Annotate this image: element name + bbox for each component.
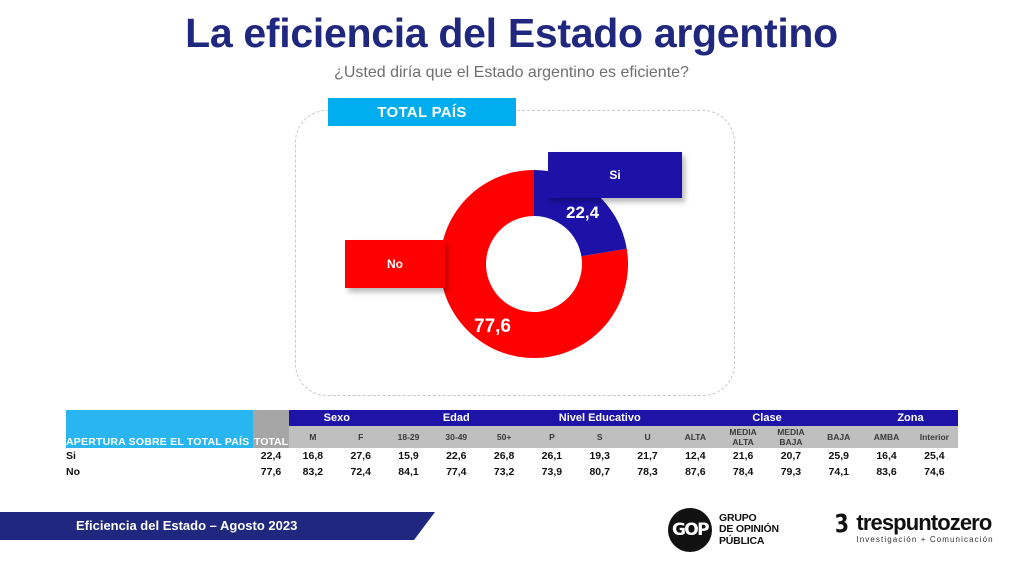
table-cell: 27,6 [337, 448, 385, 464]
table-cell: 25,4 [910, 448, 958, 464]
table-row: No77,683,272,484,177,473,273,980,778,387… [66, 464, 958, 480]
table-row: Si22,416,827,615,922,626,826,119,321,712… [66, 448, 958, 464]
table-cell: 83,6 [863, 464, 911, 480]
table-group-header-1: Sexo [289, 410, 385, 426]
table-cell: 77,4 [432, 464, 480, 480]
table-column-header-11: MEDIABAJA [767, 426, 815, 448]
donut-svg [440, 170, 628, 358]
table-group-header-4: Clase [671, 410, 862, 426]
table-column-header-2: F [337, 426, 385, 448]
table-cell: 22,6 [432, 448, 480, 464]
total-pais-badge: TOTAL PAÍS [328, 98, 516, 126]
table-cell: 20,7 [767, 448, 815, 464]
table-cell: 73,2 [480, 464, 528, 480]
gop-logo: GOP GRUPO DE OPINIÓN PÚBLICA [668, 508, 779, 552]
table-cell: 83,2 [289, 464, 337, 480]
table-cell: 26,1 [528, 448, 576, 464]
table-column-header-9: ALTA [671, 426, 719, 448]
table-cell: 80,7 [576, 464, 624, 480]
table-column-header-14: Interior [910, 426, 958, 448]
table-cell: 87,6 [671, 464, 719, 480]
table-column-header-4: 30-49 [432, 426, 480, 448]
table-cell: 73,9 [528, 464, 576, 480]
gop-mark-icon: GOP [668, 508, 712, 552]
table-row-label: No [66, 464, 253, 480]
tpz-tagline: Investigación + Comunicación [856, 534, 993, 546]
table-cell: 26,8 [480, 448, 528, 464]
callout-no: No [345, 240, 445, 288]
table-column-header-5: 50+ [480, 426, 528, 448]
table-cell: 21,7 [624, 448, 672, 464]
table-cell: 78,4 [719, 464, 767, 480]
table-cell: 15,9 [385, 448, 433, 464]
table-cell: 74,6 [910, 464, 958, 480]
table-column-header-10: MEDIAALTA [719, 426, 767, 448]
table-cell-total: 77,6 [253, 464, 289, 480]
table-cell: 25,9 [815, 448, 863, 464]
tpz-mark-icon: 3 [834, 510, 850, 536]
table-column-header-12: BAJA [815, 426, 863, 448]
table-column-header-3: 18-29 [385, 426, 433, 448]
table-column-header-6: P [528, 426, 576, 448]
tpz-name: trespuntozero [856, 511, 993, 534]
table-group-header-3: Nivel Educativo [528, 410, 671, 426]
page-title: La eficiencia del Estado argentino [0, 10, 1023, 57]
donut-value-si: 22,4 [566, 203, 599, 223]
table-total-header: TOTAL [253, 410, 289, 448]
donut-chart [440, 170, 628, 358]
table-corner-label: APERTURA SOBRE EL TOTAL PAÍS [66, 410, 253, 448]
table-column-header-8: U [624, 426, 672, 448]
table-header-row-groups: APERTURA SOBRE EL TOTAL PAÍS TOTAL SexoE… [66, 410, 958, 426]
table-row-label: Si [66, 448, 253, 464]
tpz-logo-text: trespuntozero Investigación + Comunicaci… [856, 511, 993, 546]
gop-mark-text: GOP [672, 520, 708, 540]
table-column-header-13: AMBA [863, 426, 911, 448]
table-column-header-7: S [576, 426, 624, 448]
slide-root: La eficiencia del Estado argentino ¿Uste… [0, 0, 1023, 574]
page-subtitle: ¿Usted diría que el Estado argentino es … [0, 64, 1023, 82]
table-cell: 21,6 [719, 448, 767, 464]
trespuntozero-logo: 3 trespuntozero Investigación + Comunica… [833, 511, 994, 546]
gop-logo-text: GRUPO DE OPINIÓN PÚBLICA [719, 513, 779, 548]
table-group-header-5: Zona [863, 410, 959, 426]
table-column-header-1: M [289, 426, 337, 448]
table-cell-total: 22,4 [253, 448, 289, 464]
footer-banner-text: Eficiencia del Estado – Agosto 2023 [76, 518, 297, 533]
table-cell: 12,4 [671, 448, 719, 464]
table-cell: 78,3 [624, 464, 672, 480]
table-cell: 19,3 [576, 448, 624, 464]
table-cell: 16,8 [289, 448, 337, 464]
table-cell: 16,4 [863, 448, 911, 464]
donut-value-no: 77,6 [474, 316, 511, 338]
table-cell: 74,1 [815, 464, 863, 480]
table-cell: 79,3 [767, 464, 815, 480]
table-group-header-2: Edad [385, 410, 528, 426]
table-cell: 84,1 [385, 464, 433, 480]
gop-line-3: PÚBLICA [719, 536, 779, 548]
callout-si: Si [548, 152, 682, 198]
breakdown-table: APERTURA SOBRE EL TOTAL PAÍS TOTAL SexoE… [66, 410, 958, 480]
table-cell: 72,4 [337, 464, 385, 480]
